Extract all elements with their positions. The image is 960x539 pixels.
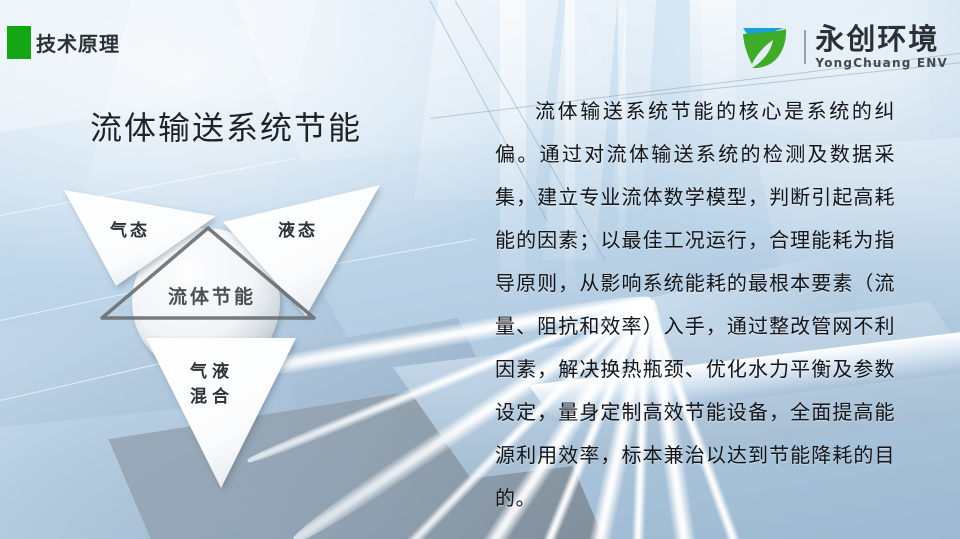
presentation-slide: 技术原理 永创环境 YongChuang ENV 流体输送系统节能: [0, 0, 960, 539]
diagram-label-mix-line2: 混合: [190, 385, 234, 410]
logo-chinese-name: 永创环境: [815, 25, 948, 54]
page-title: 流体输送系统节能: [90, 103, 362, 149]
slide-header: 技术原理 永创环境 YongChuang ENV: [0, 0, 960, 70]
section-marker-icon: [7, 26, 31, 59]
diagram-label-mix-line1: 气液: [190, 360, 234, 385]
fluid-energy-diagram: 气态 液态 流体节能 气液 混合: [40, 170, 440, 510]
logo-english-name: YongChuang ENV: [815, 57, 948, 69]
company-logo: 永创环境 YongChuang ENV: [740, 22, 948, 72]
diagram-label-mix: 气液 混合: [190, 360, 234, 409]
diagram-label-liquid: 液态: [278, 216, 318, 241]
body-paragraph: 流体输送系统节能的核心是系统的纠偏。通过对流体输送系统的检测及数据采集，建立专业…: [495, 90, 895, 520]
diagram-label-core: 流体节能: [168, 282, 256, 309]
diagram-label-gas: 气态: [110, 216, 150, 241]
leaf-icon: [740, 24, 798, 70]
logo-divider: [804, 30, 806, 64]
section-title: 技术原理: [36, 28, 120, 57]
